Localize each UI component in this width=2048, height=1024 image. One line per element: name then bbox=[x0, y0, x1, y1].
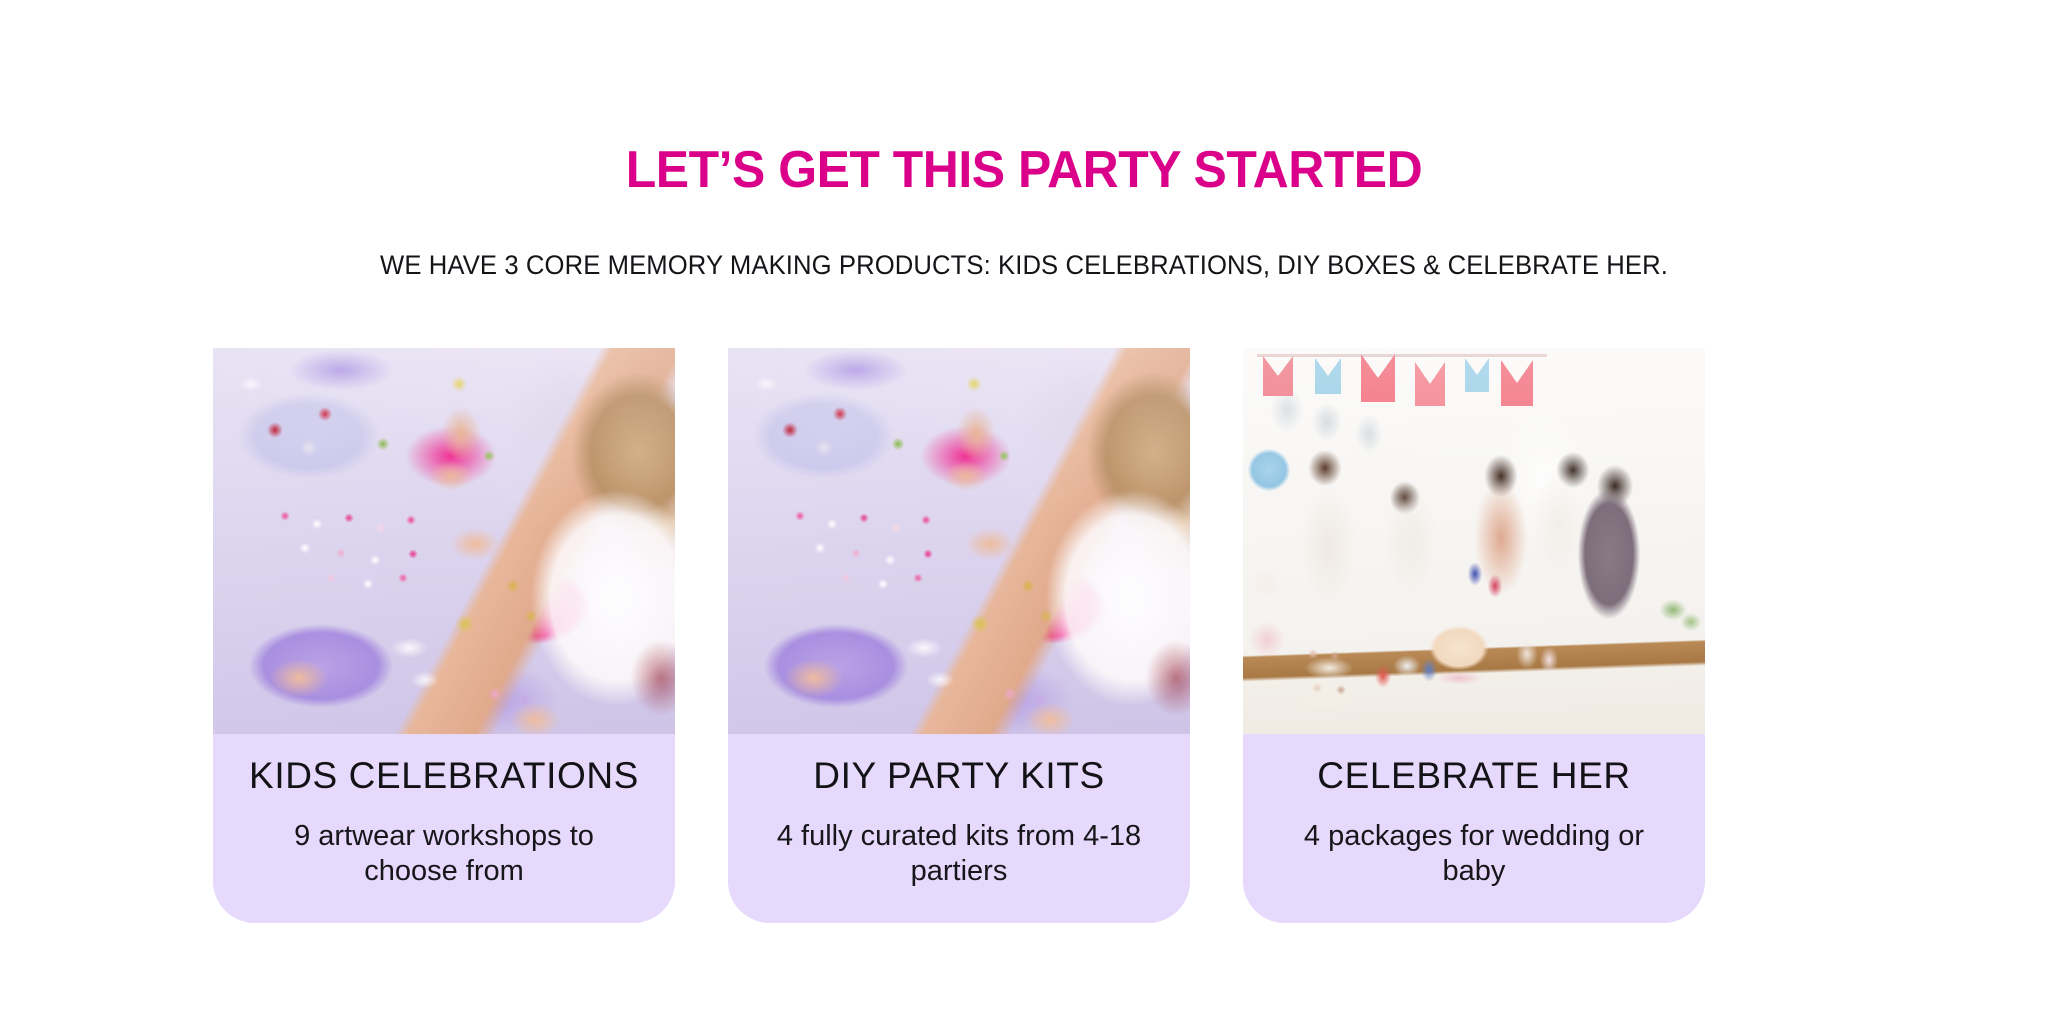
promo-page: LET’S GET THIS PARTY STARTED WE HAVE 3 C… bbox=[0, 0, 2048, 1024]
card-description: 4 packages for wedding or baby bbox=[1243, 819, 1705, 890]
baby-shower-toast-photo bbox=[1243, 348, 1705, 734]
card-title: CELEBRATE HER bbox=[1243, 756, 1705, 797]
kids-craft-table-photo bbox=[728, 348, 1190, 734]
kids-craft-table-photo bbox=[213, 348, 675, 734]
card-body: CELEBRATE HER 4 packages for wedding or … bbox=[1243, 734, 1705, 923]
page-subtitle: WE HAVE 3 CORE MEMORY MAKING PRODUCTS: K… bbox=[51, 250, 1997, 281]
card-description: 4 fully curated kits from 4-18 partiers bbox=[728, 819, 1190, 890]
product-card-row: KIDS CELEBRATIONS 9 artwear workshops to… bbox=[213, 348, 1835, 923]
product-card-diy-party-kits[interactable]: DIY PARTY KITS 4 fully curated kits from… bbox=[728, 348, 1190, 923]
card-body: DIY PARTY KITS 4 fully curated kits from… bbox=[728, 734, 1190, 923]
card-title: KIDS CELEBRATIONS bbox=[213, 756, 675, 797]
page-title: LET’S GET THIS PARTY STARTED bbox=[41, 140, 2007, 200]
product-card-celebrate-her[interactable]: CELEBRATE HER 4 packages for wedding or … bbox=[1243, 348, 1705, 923]
product-card-kids-celebrations[interactable]: KIDS CELEBRATIONS 9 artwear workshops to… bbox=[213, 348, 675, 923]
card-description: 9 artwear workshops to choose from bbox=[213, 819, 675, 890]
card-title: DIY PARTY KITS bbox=[728, 756, 1190, 797]
card-body: KIDS CELEBRATIONS 9 artwear workshops to… bbox=[213, 734, 675, 923]
